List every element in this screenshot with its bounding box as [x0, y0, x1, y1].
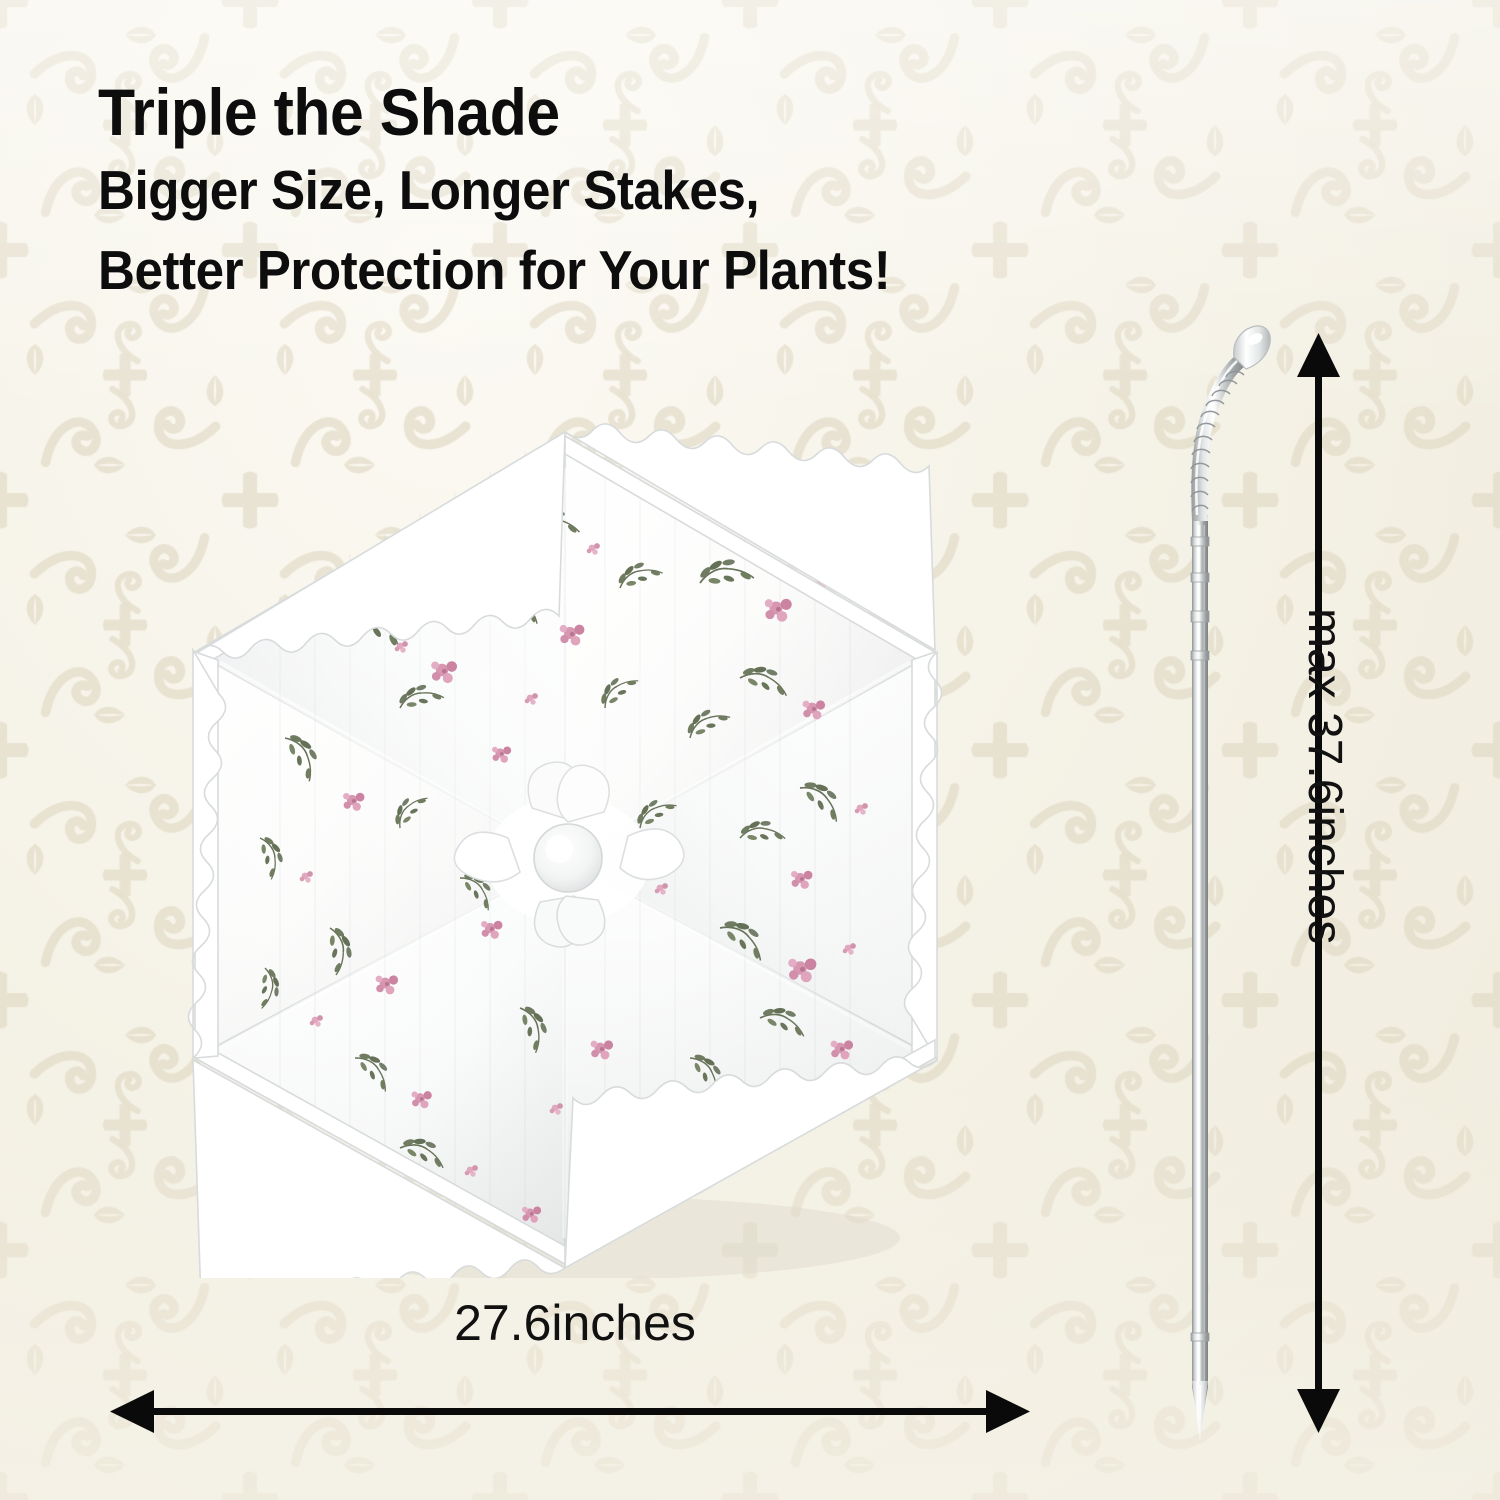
- subtitle-line-2: Better Protection for Your Plants!: [98, 230, 1037, 310]
- page-title: Triple the Shade: [98, 74, 1027, 150]
- infographic-canvas: Triple the Shade Bigger Size, Longer Sta…: [0, 0, 1500, 1500]
- double-arrow-horizontal-icon: [110, 1390, 1030, 1433]
- stake-top-cap: [1234, 326, 1271, 369]
- umbrella-illustration: [100, 408, 1030, 1278]
- width-dimension-label: 27.6inches: [0, 1294, 1150, 1352]
- headline-block: Triple the Shade Bigger Size, Longer Sta…: [98, 74, 1108, 310]
- stake-illustration: [1140, 315, 1280, 1455]
- width-dimension-arrow: [100, 1380, 1040, 1450]
- height-dimension-label: max 37.6inches: [1297, 608, 1352, 944]
- umbrella-product-image: [100, 408, 1030, 1278]
- stake-product-image: [1140, 315, 1280, 1455]
- subtitle-line-1: Bigger Size, Longer Stakes,: [98, 150, 1037, 230]
